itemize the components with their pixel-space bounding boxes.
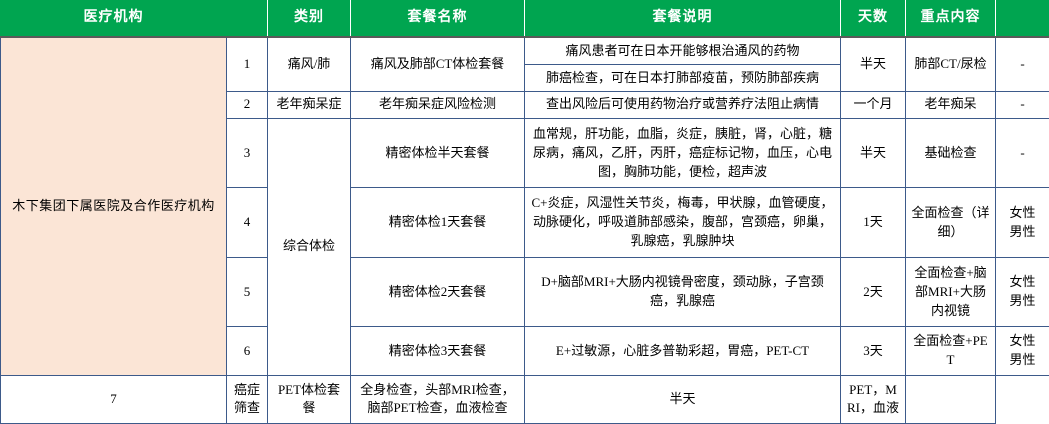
cell-gender-4: 女性 男性 — [996, 188, 1049, 258]
cell-package-name-2: 老年痴呆症风险检测 — [351, 91, 525, 118]
cell-key-content-1: 肺部CT/尿检 — [906, 37, 996, 91]
cell-category-merged: 综合体检 — [268, 118, 351, 375]
cell-desc-6: E+过敏源，心脏多普勒彩超，胃癌，PET-CT — [525, 327, 841, 375]
cell-days-7: 半天 — [525, 375, 841, 423]
cell-desc-5: D+脑部MRI+大肠内视镜骨密度，颈动脉，子宫颈癌，乳腺癌 — [525, 257, 841, 327]
cell-gender-5: 女性 男性 — [996, 257, 1049, 327]
cell-gender-1: - — [996, 37, 1049, 91]
cell-desc-2: 查出风险后可使用药物治疗或营养疗法阻止病情 — [525, 91, 841, 118]
cell-index-2: 2 — [227, 91, 268, 118]
cell-days-1: 半天 — [841, 37, 906, 91]
cell-category-7: 癌症筛查 — [227, 375, 268, 423]
cell-institution: 木下集团下属医院及合作医疗机构 — [1, 37, 227, 375]
cell-category-1: 痛风/肺 — [268, 37, 351, 91]
header-days: 天数 — [841, 1, 906, 38]
cell-gender-3: - — [996, 118, 1049, 188]
gender-female-label: 女性 — [1000, 204, 1045, 223]
header-package-name: 套餐名称 — [351, 1, 525, 38]
header-gender — [996, 1, 1049, 38]
cell-package-name-5: 精密体检2天套餐 — [351, 257, 525, 327]
cell-days-6: 3天 — [841, 327, 906, 375]
header-institution: 医疗机构 — [1, 1, 227, 38]
cell-key-content-2: 老年痴呆 — [906, 91, 996, 118]
cell-key-content-4: 全面检查（详细） — [906, 188, 996, 258]
table-row: 7 癌症筛查 PET体检套餐 全身检查，头部MRI检查，脑部PET检查，血液检查… — [1, 375, 1049, 423]
cell-days-3: 半天 — [841, 118, 906, 188]
gender-male-label: 男性 — [1000, 223, 1045, 242]
cell-key-content-5: 全面检查+脑部MRI+大肠内视镜 — [906, 257, 996, 327]
cell-days-2: 一个月 — [841, 91, 906, 118]
gender-female-label: 女性 — [1000, 332, 1045, 351]
cell-package-name-4: 精密体检1天套餐 — [351, 188, 525, 258]
cell-key-content-3: 基础检查 — [906, 118, 996, 188]
cell-package-name-3: 精密体检半天套餐 — [351, 118, 525, 188]
header-key-content: 重点内容 — [906, 1, 996, 38]
health-checkup-table: 医疗机构 类别 套餐名称 套餐说明 天数 重点内容 木下集团下属医院及合作医疗机… — [0, 0, 1049, 424]
gender-male-label: 男性 — [1000, 292, 1045, 311]
table-row: 木下集团下属医院及合作医疗机构 1 痛风/肺 痛风及肺部CT体检套餐 痛风患者可… — [1, 37, 1049, 65]
cell-desc-1b: 肺癌检查，可在日本打肺部疫苗，预防肺部疾病 — [525, 65, 841, 92]
cell-index-4: 4 — [227, 188, 268, 258]
cell-days-4: 1天 — [841, 188, 906, 258]
header-index — [227, 1, 268, 38]
cell-gender-2: - — [996, 91, 1049, 118]
cell-key-content-7: PET，MRI，血液 — [841, 375, 906, 423]
cell-category-2: 老年痴呆症 — [268, 91, 351, 118]
cell-desc-1a: 痛风患者可在日本开能够根治通风的药物 — [525, 37, 841, 65]
cell-days-5: 2天 — [841, 257, 906, 327]
header-category: 类别 — [268, 1, 351, 38]
cell-package-name-7: PET体检套餐 — [268, 375, 351, 423]
cell-desc-7: 全身检查，头部MRI检查，脑部PET检查，血液检查 — [351, 375, 525, 423]
header-package-desc: 套餐说明 — [525, 1, 841, 38]
table-header-row: 医疗机构 类别 套餐名称 套餐说明 天数 重点内容 — [1, 1, 1049, 38]
cell-package-name-1: 痛风及肺部CT体检套餐 — [351, 37, 525, 91]
gender-female-label: 女性 — [1000, 273, 1045, 292]
cell-desc-4: C+炎症，风湿性关节炎，梅毒，甲状腺，血管硬度，动脉硬化，呼吸道肺部感染，腹部，… — [525, 188, 841, 258]
cell-gender-7 — [906, 375, 996, 423]
cell-gender-6: 女性 男性 — [996, 327, 1049, 375]
cell-package-name-6: 精密体检3天套餐 — [351, 327, 525, 375]
cell-index-5: 5 — [227, 257, 268, 327]
cell-key-content-6: 全面检查+PET — [906, 327, 996, 375]
cell-index-3: 3 — [227, 118, 268, 188]
cell-index-7: 7 — [1, 375, 227, 423]
cell-desc-3: 血常规，肝功能，血脂，炎症，胰脏，肾，心脏，糖尿病，痛风，乙肝，丙肝，癌症标记物… — [525, 118, 841, 188]
cell-index-1: 1 — [227, 37, 268, 91]
cell-index-6: 6 — [227, 327, 268, 375]
gender-male-label: 男性 — [1000, 351, 1045, 370]
